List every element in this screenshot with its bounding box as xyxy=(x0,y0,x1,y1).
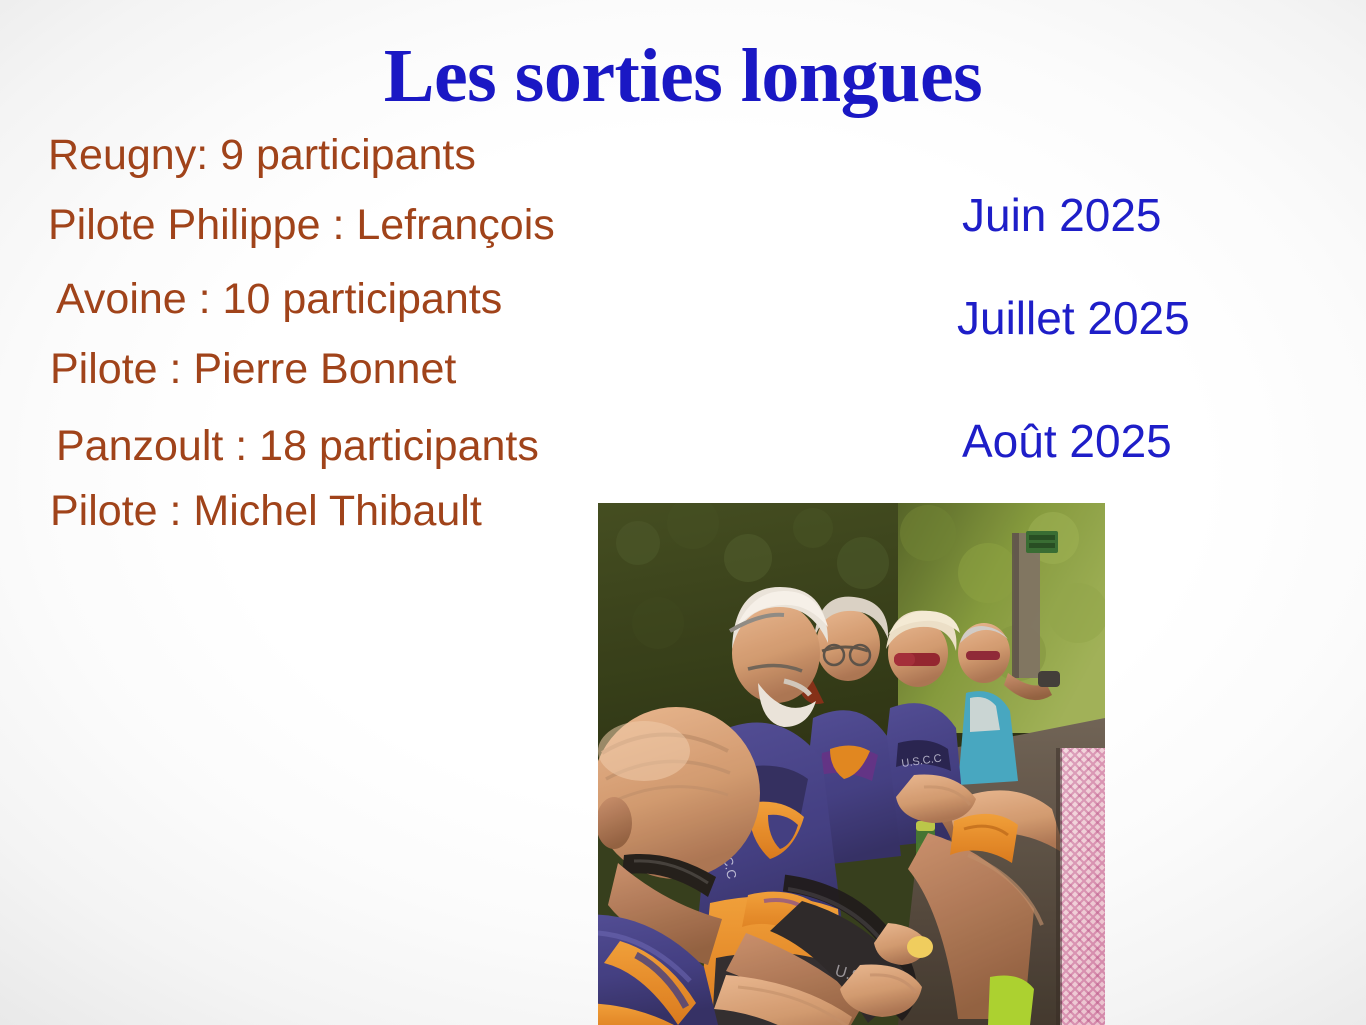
cyclists-photo: U.S.C.C xyxy=(598,503,1105,1025)
cyclists-photo-illustration: U.S.C.C xyxy=(598,503,1105,1025)
outing-date: Août 2025 xyxy=(962,418,1172,464)
outing-date: Juin 2025 xyxy=(962,192,1162,238)
outing-date: Juillet 2025 xyxy=(957,295,1190,341)
slide-canvas: Les sorties longues Reugny: 9 participan… xyxy=(0,0,1366,1025)
dates-list: Juin 2025 Juillet 2025 Août 2025 xyxy=(0,0,1366,520)
